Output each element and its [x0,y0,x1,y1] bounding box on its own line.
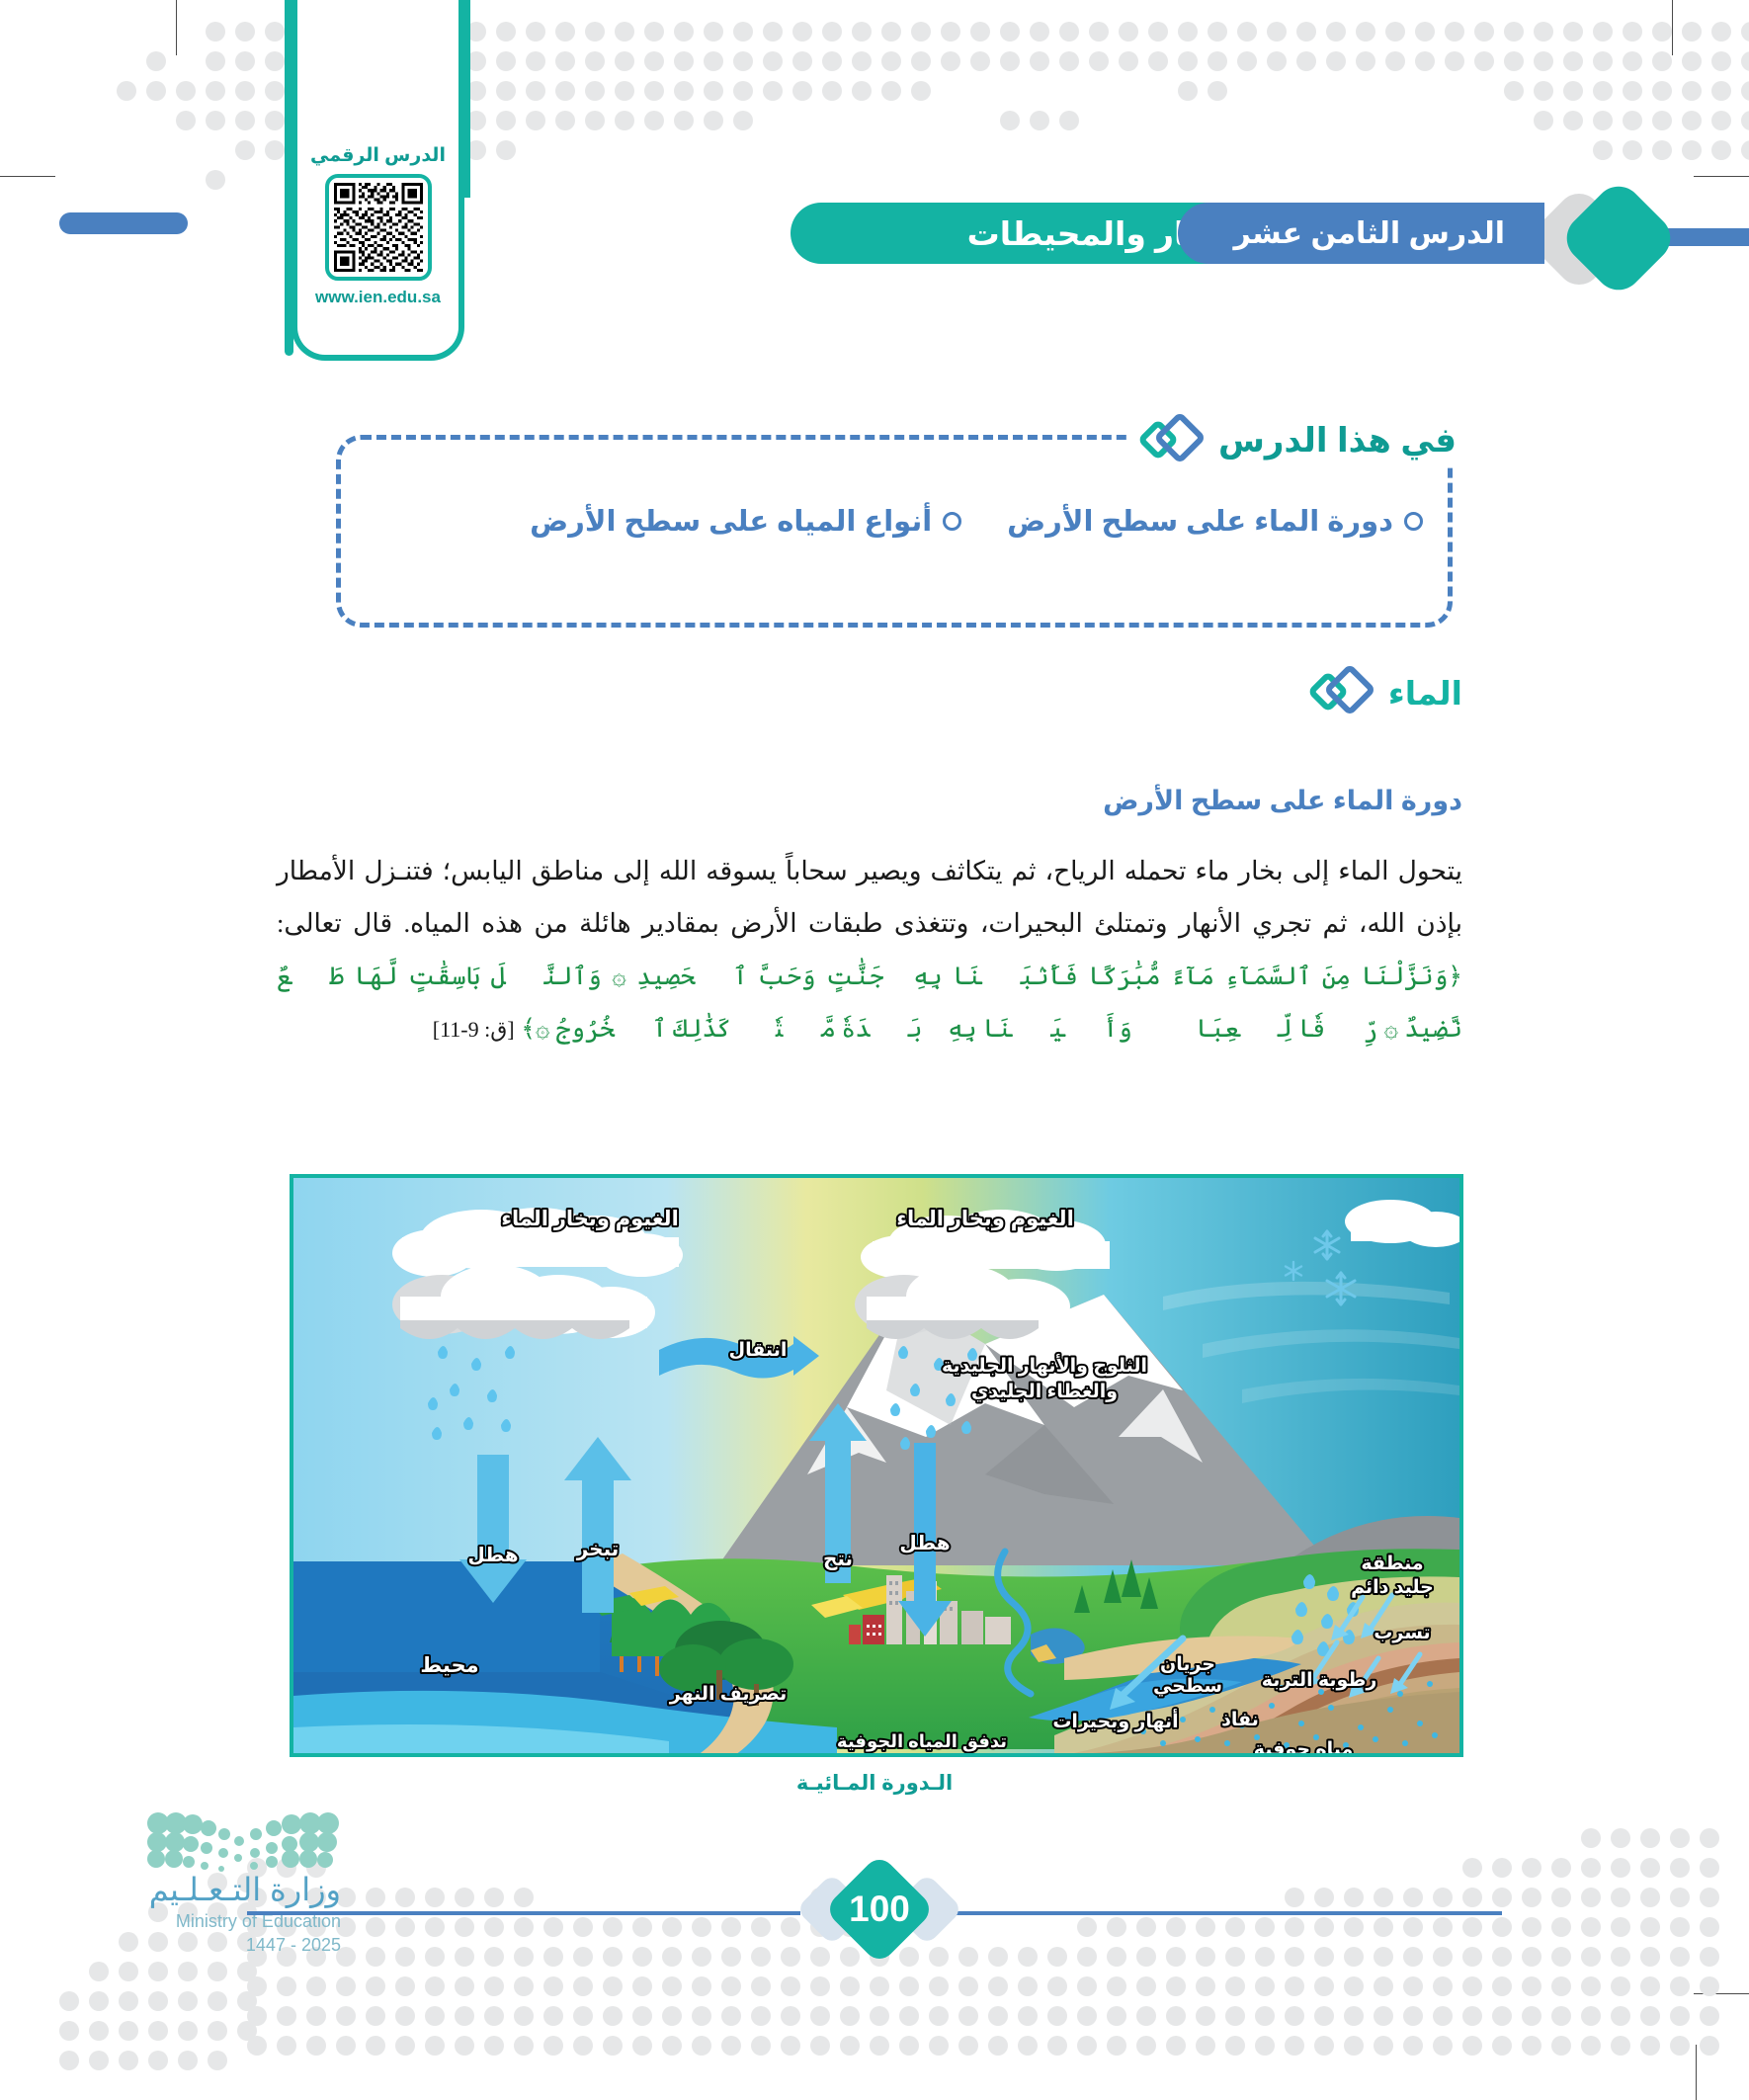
digital-lesson-card[interactable]: الدرس الرقمي [291,0,464,361]
bullet-circle-icon [943,512,961,531]
in-this-lesson-title: في هذا الدرس [1218,421,1457,461]
list-item: أنواع المياه على سطح الأرض [530,504,961,539]
in-this-lesson-title-group: في هذا الدرس [1127,415,1462,466]
digital-lesson-label: الدرس الرقمي [310,146,446,165]
svg-text:أنهار وبحيرات: أنهار وبحيرات [1052,1709,1178,1732]
crop-mark-top-left-h [0,176,55,177]
textbook-page: الدرس الرقمي [0,0,1749,2100]
figure-caption: الـدورة المـائيـة [0,1771,1749,1796]
lesson-number: الدرس الثامن عشر [1178,203,1544,264]
ministry-logo: وزارة التـعـلـيم Ministry of Education 2… [84,1806,341,1958]
svg-text:تسرب: تسرب [1374,1623,1430,1643]
bullet-circle-icon [1404,512,1423,531]
body-paragraph: يتحول الماء إلى بخار ماء تحمله الرياح، ث… [277,845,1462,1054]
svg-text:جليد دائم: جليد دائم [1351,1577,1434,1598]
svg-text:الثلوج والأنهار الجليدية: الثلوج والأنهار الجليدية [942,1354,1147,1377]
paragraph-text: يتحول الماء إلى بخار ماء تحمله الرياح، ث… [277,856,1462,938]
svg-text:رطوبة التربة: رطوبة التربة [1262,1670,1377,1691]
ministry-name-ar: وزارة التـعـلـيم [84,1874,341,1905]
svg-text:جريان: جريان [1160,1654,1215,1675]
lesson-header: البحار والمحيطات الدرس الثامن عشر [0,203,1749,272]
page-number: 100 [828,1858,931,1961]
section-heading-group: الماء [1313,667,1462,718]
in-this-lesson-items: دورة الماء على سطح الأرض أنواع المياه عل… [366,504,1423,539]
double-diamond-icon [1143,415,1205,466]
decor-teal-rule-right [464,0,470,198]
svg-text:نتح: نتح [823,1549,853,1570]
double-diamond-icon [1313,667,1374,718]
footer-rule-left [247,1911,800,1915]
list-item-label: أنواع المياه على سطح الأرض [530,504,932,539]
svg-text:نفاذ: نفاذ [1221,1710,1259,1730]
decor-dots-top-left [117,22,294,229]
page-number-badge: 100 [828,1858,931,1961]
svg-text:محيط: محيط [420,1654,478,1677]
svg-text:الغيوم وبخار الماء: الغيوم وبخار الماء [896,1208,1074,1230]
decor-dots-bottom-band [247,1828,1729,2075]
water-cycle-illustration: الغيوم وبخار الماء الغيوم وبخار الماء ان… [290,1174,1463,1757]
verse-reference: [ق: 9-11] [433,1017,515,1042]
ministry-year: 2025 - 1447 [84,1933,341,1957]
list-item: دورة الماء على سطح الأرض [1007,504,1423,539]
subsection-heading: دورة الماء على سطح الأرض [1103,786,1462,816]
section-heading: الماء [1388,674,1462,713]
svg-text:مياه جوفية: مياه جوفية [1254,1739,1353,1753]
svg-text:والغطاء الجليدي: والغطاء الجليدي [971,1382,1118,1403]
svg-text:تبخر: تبخر [576,1539,620,1560]
svg-text:تدفق المياه الجوفية: تدفق المياه الجوفية [837,1731,1007,1752]
digital-lesson-url[interactable]: www.ien.edu.sa [315,288,441,307]
svg-text:هطل: هطل [899,1533,950,1554]
svg-text:منطقة: منطقة [1361,1554,1423,1574]
ministry-emblem-icon [143,1806,341,1868]
svg-text:سطحي: سطحي [1153,1676,1222,1697]
svg-text:الغيوم وبخار الماء: الغيوم وبخار الماء [501,1208,679,1230]
decor-dots-top-band [348,22,1749,200]
footer-rule-right [929,1911,1502,1915]
svg-text:تصريف النهر: تصريف النهر [669,1684,787,1705]
list-item-label: دورة الماء على سطح الأرض [1007,504,1393,539]
svg-text:انتقال: انتقال [729,1340,788,1361]
svg-text:هطل: هطل [467,1545,518,1566]
